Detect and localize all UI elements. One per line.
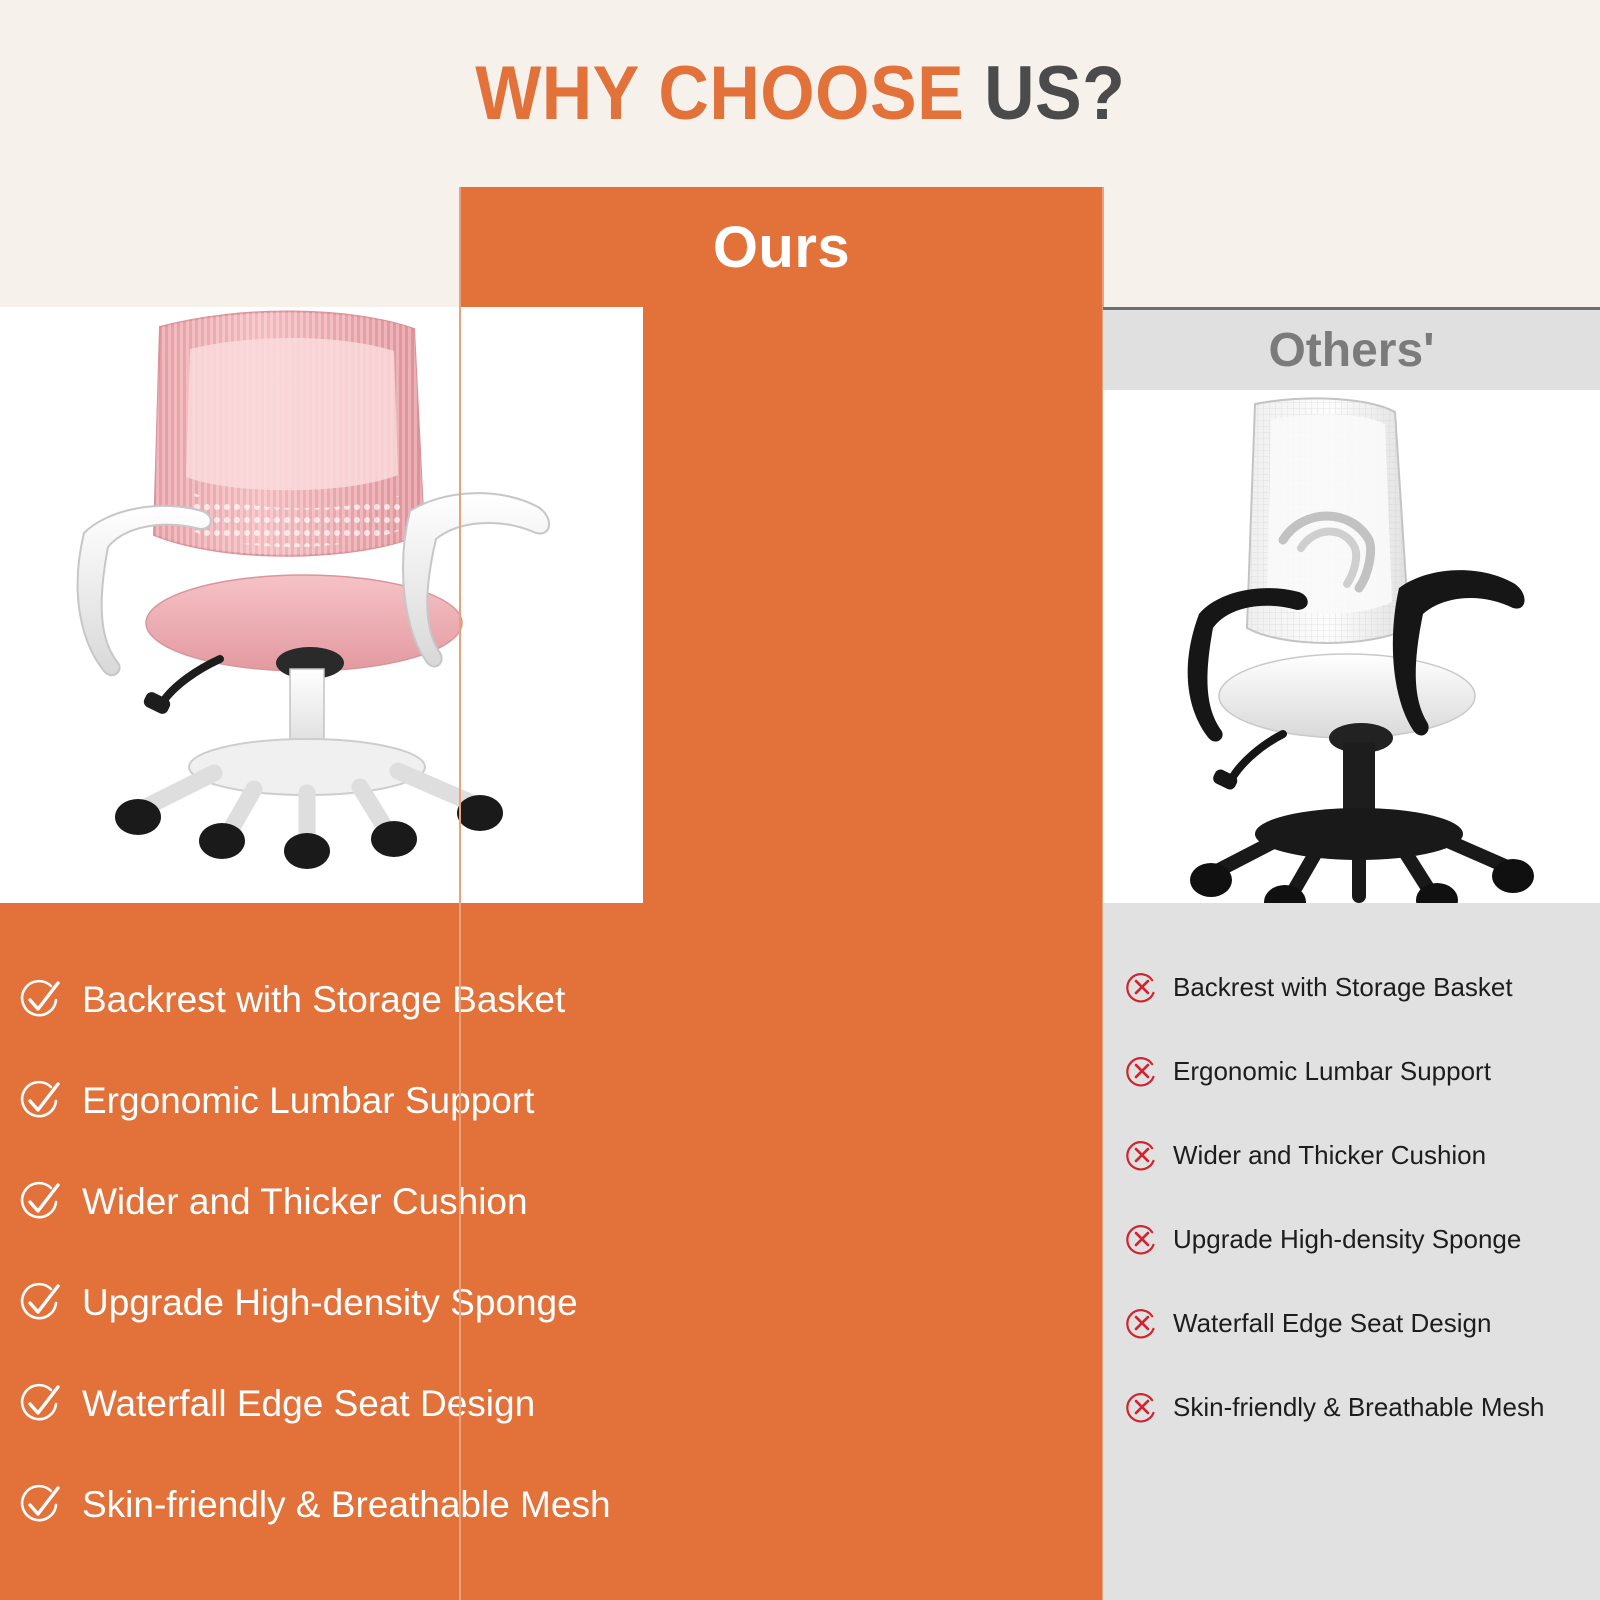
list-item: Ergonomic Lumbar Support <box>18 1050 643 1151</box>
feature-label: Backrest with Storage Basket <box>82 979 565 1021</box>
circle-cross-icon <box>1125 1054 1159 1088</box>
circle-cross-icon <box>1125 1222 1159 1256</box>
ours-feature-list: Backrest with Storage Basket Ergonomic L… <box>0 903 643 1600</box>
list-item: Skin-friendly & Breathable Mesh <box>18 1454 643 1555</box>
comparison-board: Others' <box>0 187 1600 1600</box>
list-item: Ergonomic Lumbar Support <box>1125 1029 1600 1113</box>
left-top-filler <box>0 187 460 307</box>
list-item: Waterfall Edge Seat Design <box>18 1353 643 1454</box>
column-others-right: Others' <box>1103 307 1600 1600</box>
feature-label: Ergonomic Lumbar Support <box>82 1080 534 1122</box>
circle-cross-icon <box>1125 1138 1159 1172</box>
list-item: Upgrade High-density Sponge <box>1125 1197 1600 1281</box>
feature-label: Waterfall Edge Seat Design <box>1173 1308 1491 1339</box>
list-item: Skin-friendly & Breathable Mesh <box>1125 1365 1600 1449</box>
others-right-photo <box>1103 390 1600 903</box>
others-right-feature-list: Backrest with Storage Basket Ergonomic L… <box>1103 903 1600 1600</box>
feature-label: Waterfall Edge Seat Design <box>82 1383 535 1425</box>
circle-check-icon <box>18 1483 62 1527</box>
circle-check-icon <box>18 978 62 1022</box>
pink-office-chair-illustration <box>42 307 602 903</box>
circle-check-icon <box>18 1079 62 1123</box>
ours-label: Ours <box>713 214 850 281</box>
circle-check-icon <box>18 1180 62 1224</box>
circle-check-icon <box>18 1382 62 1426</box>
page-title-accent: WHY CHOOSE <box>475 51 964 136</box>
feature-label: Skin-friendly & Breathable Mesh <box>1173 1392 1544 1423</box>
list-item: Waterfall Edge Seat Design <box>1125 1281 1600 1365</box>
list-item: Upgrade High-density Sponge <box>18 1252 643 1353</box>
feature-label: Ergonomic Lumbar Support <box>1173 1056 1491 1087</box>
list-item: Wider and Thicker Cushion <box>18 1151 643 1252</box>
circle-check-icon <box>18 1281 62 1325</box>
others-right-label: Others' <box>1268 323 1434 378</box>
list-item: Wider and Thicker Cushion <box>1125 1113 1600 1197</box>
page-title-rest: US? <box>964 51 1125 136</box>
feature-label: Upgrade High-density Sponge <box>82 1282 578 1324</box>
white-office-chair-illustration <box>1137 390 1567 903</box>
feature-label: Upgrade High-density Sponge <box>1173 1224 1521 1255</box>
list-item: Backrest with Storage Basket <box>1125 945 1600 1029</box>
page-title: WHY CHOOSE US? <box>475 50 1125 137</box>
circle-cross-icon <box>1125 1390 1159 1424</box>
feature-label: Wider and Thicker Cushion <box>1173 1140 1486 1171</box>
ours-header: Ours <box>460 187 1103 307</box>
right-top-filler <box>1103 187 1600 307</box>
circle-cross-icon <box>1125 970 1159 1004</box>
feature-label: Skin-friendly & Breathable Mesh <box>82 1484 611 1526</box>
center-left-divider <box>459 187 461 1600</box>
feature-label: Backrest with Storage Basket <box>1173 972 1513 1003</box>
others-right-header: Others' <box>1103 307 1600 390</box>
circle-cross-icon <box>1125 1306 1159 1340</box>
page-title-bar: WHY CHOOSE US? <box>0 0 1600 187</box>
list-item: Backrest with Storage Basket <box>18 949 643 1050</box>
ours-photo <box>0 307 643 903</box>
